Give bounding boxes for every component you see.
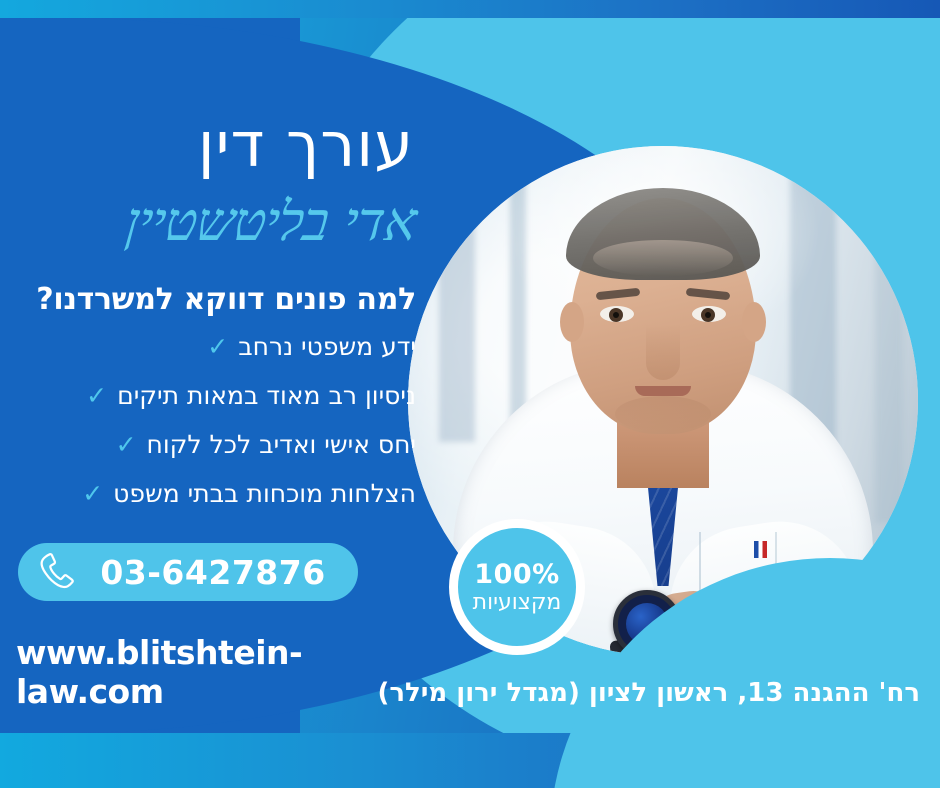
phone-number: 03-6427876 [86, 553, 340, 592]
professionalism-badge: 100% מקצועיות [449, 519, 585, 655]
list-item: ידע משפטי נרחב ✓ [82, 332, 416, 361]
lawyer-name: אדי בליטשטיין [123, 190, 419, 253]
subtitle-question: למה פונים דווקא למשרדנו? [36, 282, 416, 317]
hair [566, 188, 760, 280]
page-title: עורך דין [198, 108, 414, 181]
list-item: ניסיון רב מאוד במאות תיקים ✓ [82, 381, 416, 410]
benefits-list: ידע משפטי נרחב ✓ ניסיון רב מאוד במאות תי… [82, 332, 416, 528]
chin-shadow [615, 396, 711, 432]
pupil [609, 308, 623, 322]
office-address: רח' ההגנה 13, ראשון לציון (מגדל ירון מיל… [40, 678, 920, 708]
list-item-label: יחס אישי ואדיב לכל לקוח [147, 430, 416, 459]
nose [646, 324, 680, 380]
window-blur-bar [875, 166, 903, 523]
pocket-flag-emblem [754, 541, 767, 558]
eye-right [692, 306, 726, 322]
check-icon: ✓ [82, 481, 103, 506]
check-icon: ✓ [86, 383, 107, 408]
list-item-label: ניסיון רב מאוד במאות תיקים [117, 381, 416, 410]
phone-handset-icon [36, 550, 80, 594]
check-icon: ✓ [116, 432, 137, 457]
window-blur-bar [439, 146, 475, 442]
ear-left [560, 302, 584, 342]
badge-percent: 100% [474, 560, 559, 589]
ear-right [742, 302, 766, 342]
check-icon: ✓ [207, 334, 228, 359]
list-item-label: ידע משפטי נרחב [238, 332, 416, 361]
badge-label: מקצועיות [473, 591, 562, 615]
portrait-head [570, 198, 756, 434]
ad-text-content: עורך דין אדי בליטשטיין למה פונים דווקא ל… [0, 0, 430, 788]
list-item-label: הצלחות מוכחות בבתי משפט [113, 479, 416, 508]
mouth [635, 386, 691, 396]
list-item: יחס אישי ואדיב לכל לקוח ✓ [82, 430, 416, 459]
eye-left [600, 306, 634, 322]
advertisement-banner: 100% מקצועיות עורך דין אדי בליטשטיין למה… [0, 0, 940, 788]
phone-call-button[interactable]: 03-6427876 [18, 543, 358, 601]
pupil [701, 308, 715, 322]
list-item: הצלחות מוכחות בבתי משפט ✓ [82, 479, 416, 508]
